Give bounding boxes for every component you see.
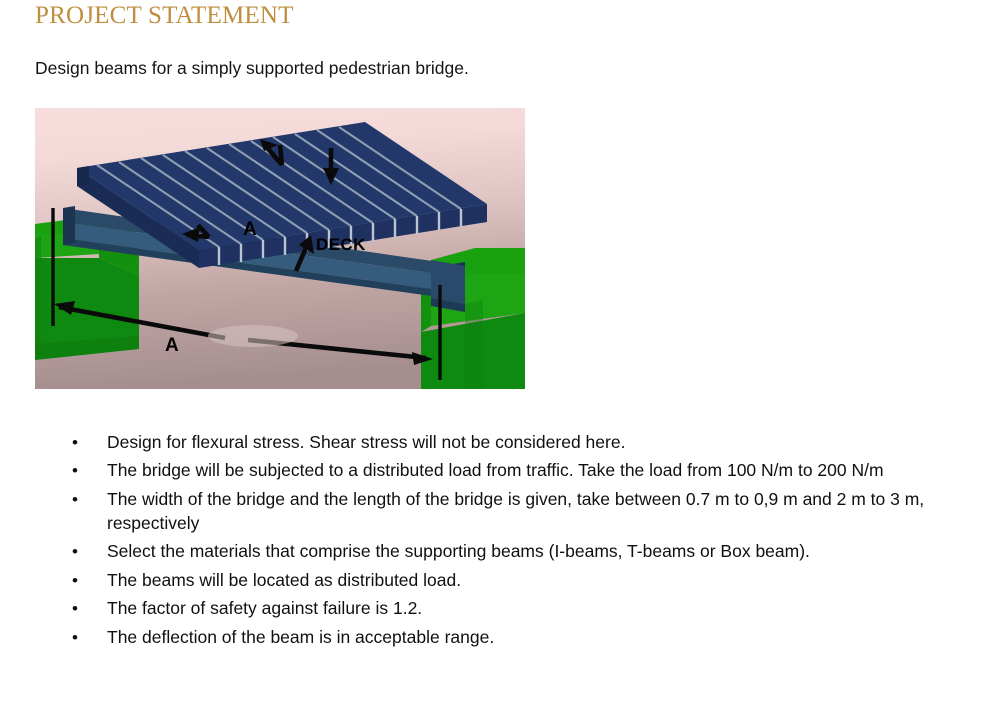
list-item: • The bridge will be subjected to a dist… [66, 459, 996, 483]
list-item-text: The bridge will be subjected to a distri… [107, 460, 884, 480]
list-item-text: The factor of safety against failure is … [107, 598, 422, 618]
bullet-glyph: • [72, 569, 78, 592]
list-item-text: The width of the bridge and the length o… [107, 489, 924, 533]
bridge-illustration [35, 108, 525, 389]
bridge-diagram-figure: A A DECK BEAM L [35, 108, 525, 389]
bullet-glyph: • [72, 488, 78, 511]
bullet-glyph: • [72, 626, 78, 649]
bullet-glyph: • [72, 459, 78, 482]
project-statement-page: PROJECT STATEMENT Design beams for a sim… [0, 0, 1008, 705]
list-item-text: Design for flexural stress. Shear stress… [107, 432, 625, 452]
bullet-glyph: • [72, 597, 78, 620]
list-item: • The factor of safety against failure i… [66, 597, 996, 621]
list-item: • The beams will be located as distribut… [66, 569, 996, 593]
bullet-glyph: • [72, 431, 78, 454]
requirements-list: • Design for flexural stress. Shear stre… [66, 431, 996, 654]
label-deck: DECK [316, 236, 366, 253]
list-item: • Select the materials that comprise the… [66, 540, 996, 564]
list-item: • The width of the bridge and the length… [66, 488, 996, 536]
bullet-glyph: • [72, 540, 78, 563]
list-item: • The deflection of the beam is in accep… [66, 626, 996, 650]
list-item: • Design for flexural stress. Shear stre… [66, 431, 996, 455]
label-section-a-top: A [243, 220, 257, 239]
page-title: PROJECT STATEMENT [35, 2, 294, 30]
label-section-a-bottom: A [165, 336, 179, 355]
span-label-backdrop [208, 325, 298, 347]
list-item-text: The beams will be located as distributed… [107, 570, 461, 590]
intro-paragraph: Design beams for a simply supported pede… [35, 58, 469, 79]
list-item-text: The deflection of the beam is in accepta… [107, 627, 494, 647]
list-item-text: Select the materials that comprise the s… [107, 541, 810, 561]
